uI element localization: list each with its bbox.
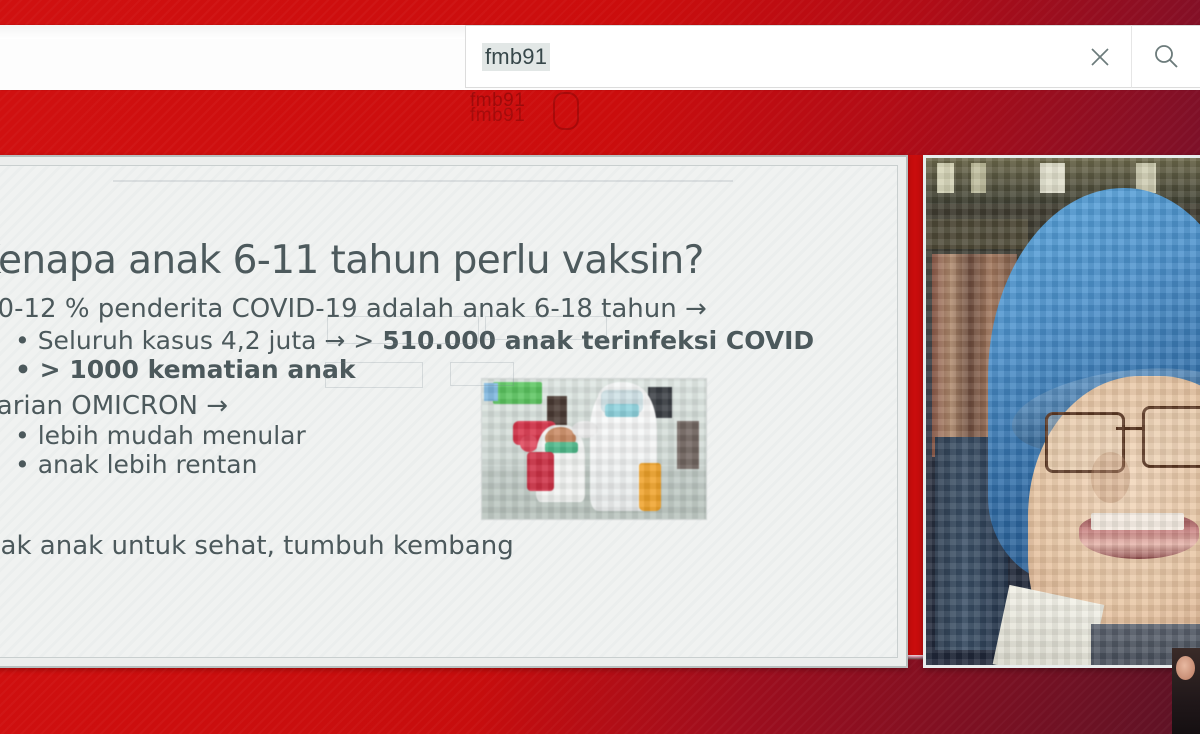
search-echo-artifact: fmb91 fmb91: [470, 92, 525, 125]
search-echo-caret: [553, 92, 579, 130]
clear-search-button[interactable]: [1070, 25, 1130, 88]
slide-line-7: Hak anak untuk sehat, tumbuh kembang: [0, 533, 871, 560]
submit-search-button[interactable]: [1131, 25, 1200, 88]
slide-canvas: Kenapa anak 6-11 tahun perlu vaksin? 10-…: [0, 165, 898, 658]
search-icon: [1151, 42, 1181, 72]
participant-video-tile[interactable]: [923, 155, 1200, 668]
close-icon: [1087, 44, 1113, 70]
slide-photo-ppe-workers: [481, 378, 707, 520]
slide-line-2-normal: • Seluruh kasus 4,2 juta → >: [15, 326, 382, 355]
slide-line-3: • > 1000 kematian anak: [15, 357, 871, 383]
secondary-participant-fragment: [1172, 648, 1200, 734]
screen-root: fmb91 fmb91 fmb91 Kenapa anak 6-11 tahun…: [0, 0, 1200, 734]
search-input-value: fmb91: [482, 43, 550, 71]
slide-line-4: Varian OMICRON →: [0, 393, 871, 420]
slide-line-6: • anak lebih rentan: [15, 452, 871, 478]
slide-line-2-bold: 510.000 anak terinfeksi COVID: [382, 326, 814, 355]
slide-title: Kenapa anak 6-11 tahun perlu vaksin?: [0, 238, 704, 283]
slide-line-2: • Seluruh kasus 4,2 juta → > 510.000 ana…: [15, 328, 871, 354]
search-echo-line-2: fmb91: [470, 107, 525, 125]
slide-line-1: 10-12 % penderita COVID-19 adalah anak 6…: [0, 296, 871, 323]
slide-ghost-rule: [113, 180, 733, 182]
slide-body: 10-12 % penderita COVID-19 adalah anak 6…: [0, 296, 871, 560]
slide-line-5: • lebih mudah menular: [15, 423, 871, 449]
shared-screen-slide-panel[interactable]: Kenapa anak 6-11 tahun perlu vaksin? 10-…: [0, 155, 908, 668]
